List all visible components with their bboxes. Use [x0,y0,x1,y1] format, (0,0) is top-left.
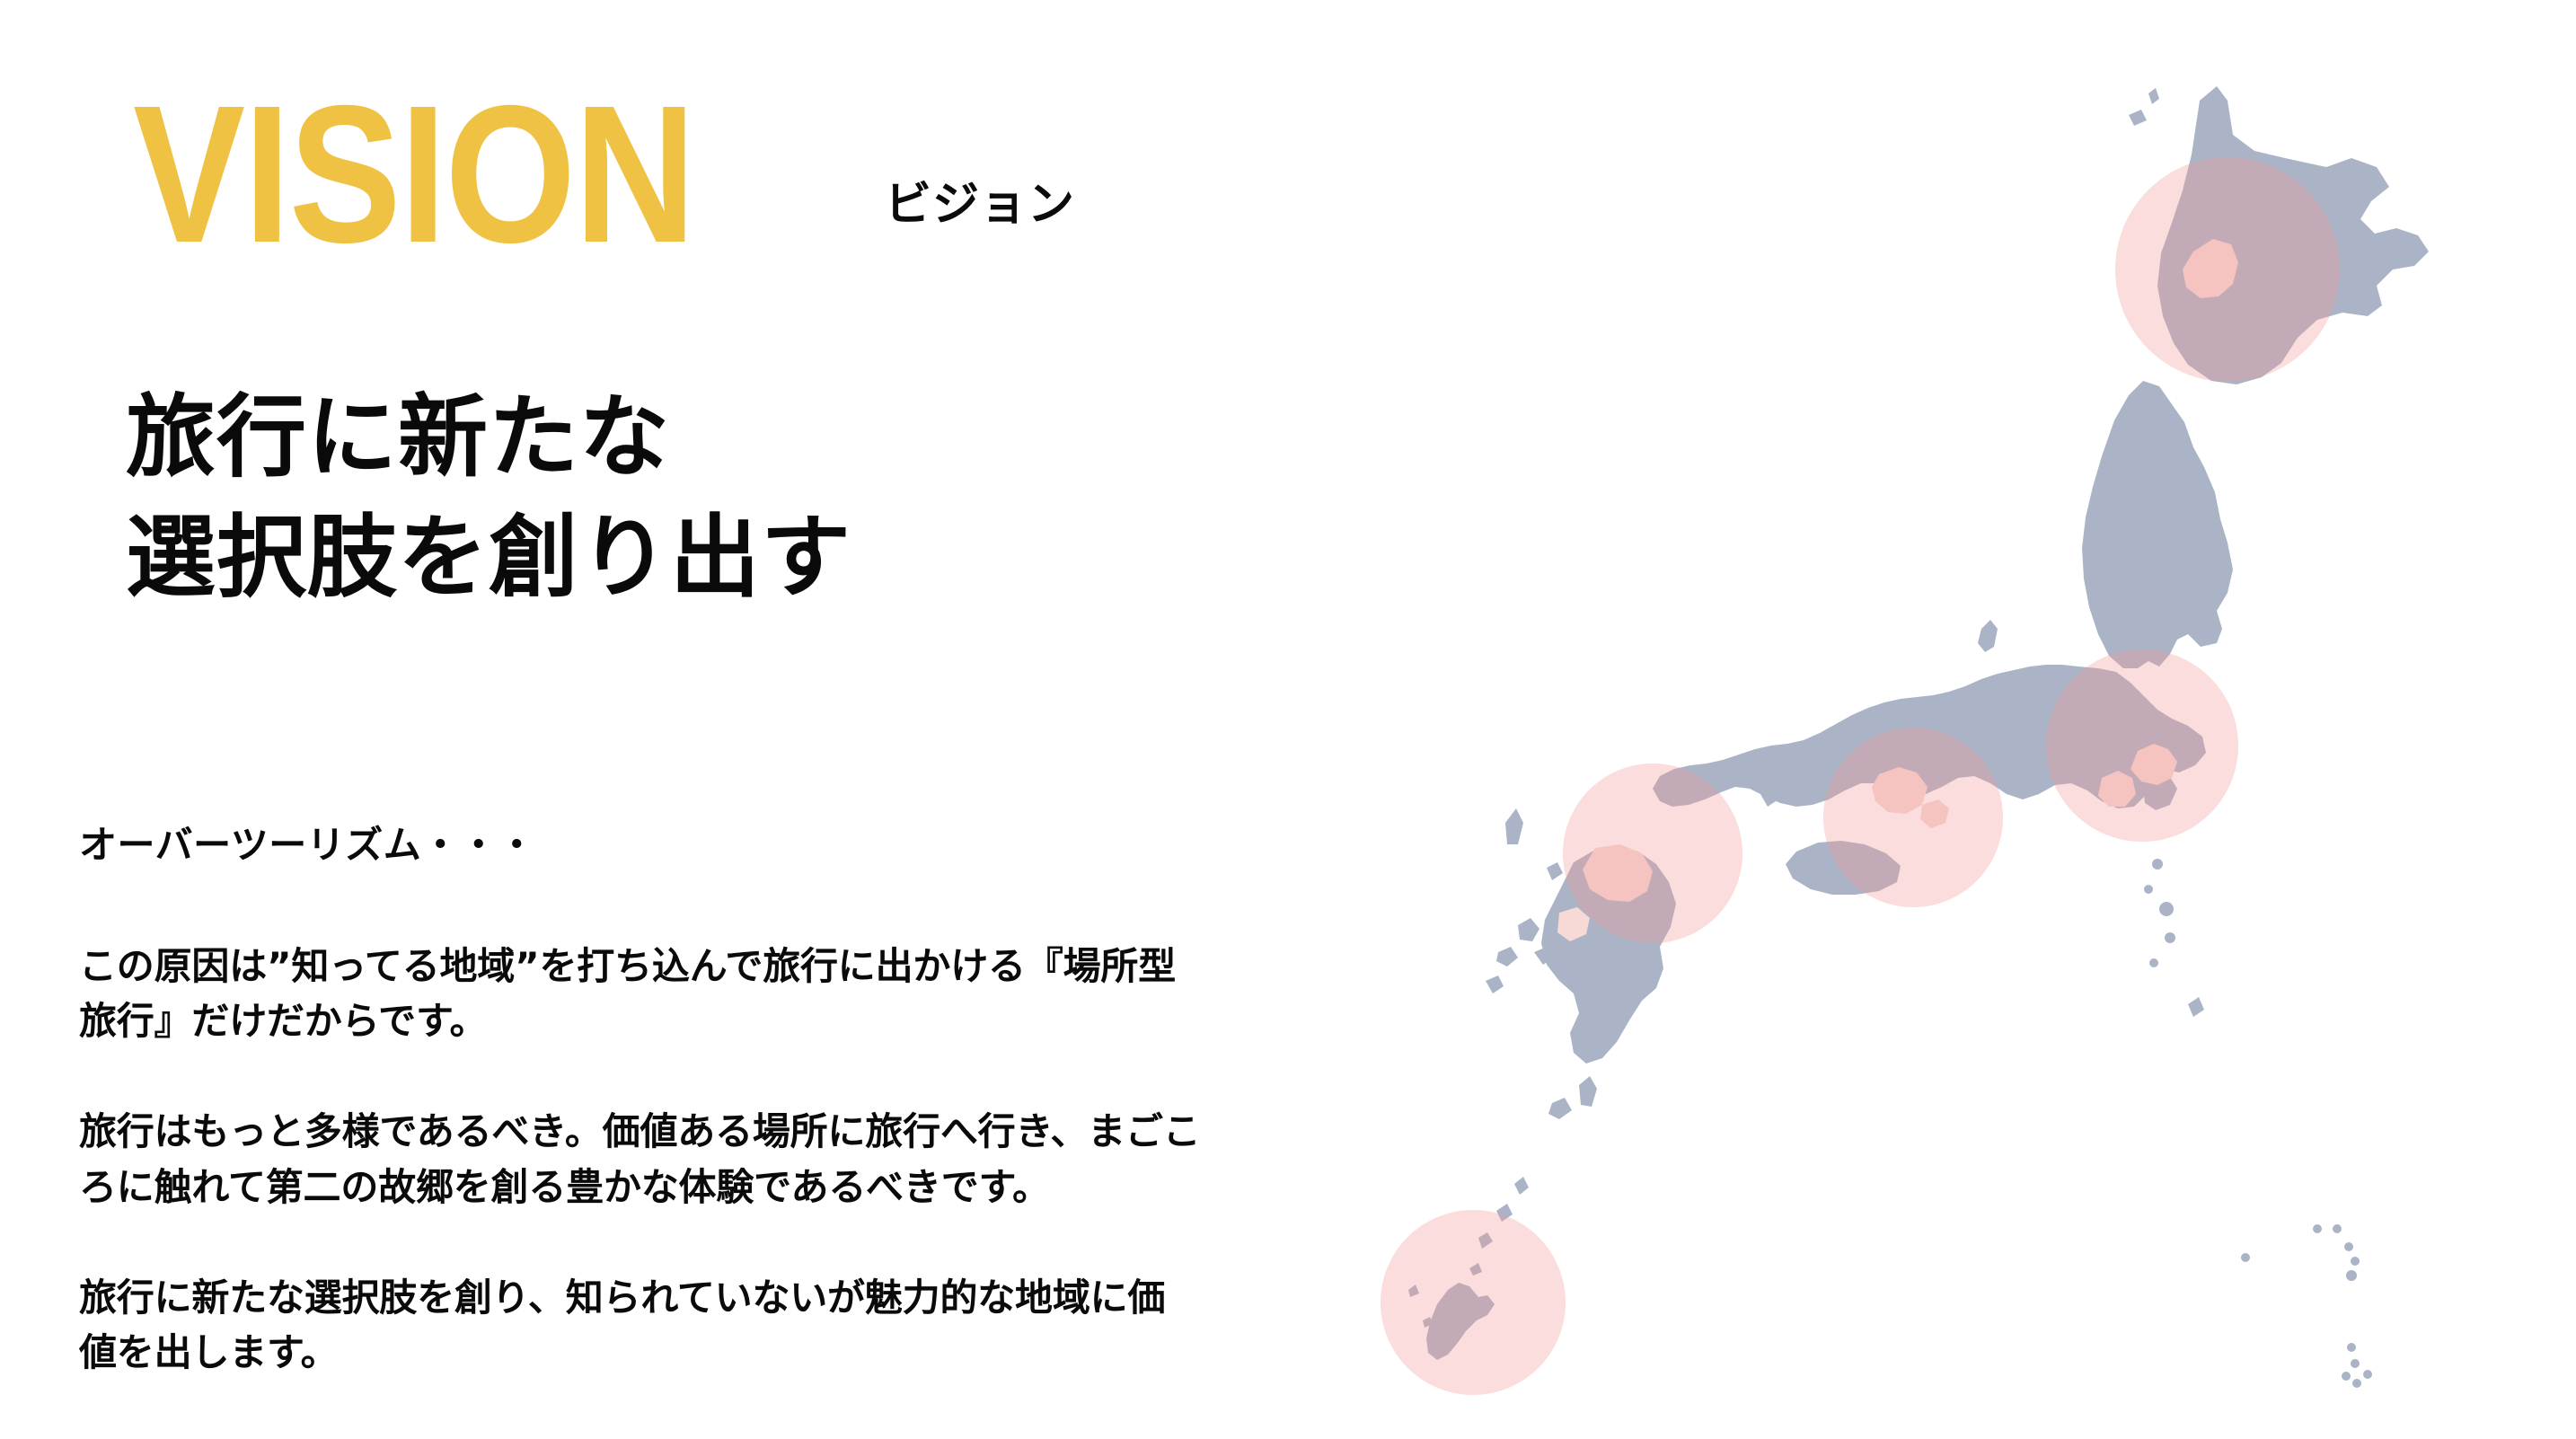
lead-line: オーバーツーリズム・・・ [79,819,1220,872]
body-paragraph-2: 旅行はもっと多様であるべき。価値ある場所に旅行へ行き、まごころに触れて第二の故郷… [79,1104,1202,1214]
page-subtitle: ビジョン [885,181,1075,228]
left-content-column: VISION ビジョン 旅行に新たな 選択肢を創り出す オーバーツーリズム・・・… [0,0,1275,1439]
marker-circles [1381,157,2340,1395]
body-text-block: オーバーツーリズム・・・ この原因は”知ってる地域”を打ち込んで旅行に出かける『… [79,819,1220,1381]
okinawa-marker[interactable] [1381,1210,1566,1395]
body-paragraph-3: 旅行に新たな選択肢を創り、知られていないが魅力的な地域に価値を出します。 [79,1270,1202,1381]
kansai-marker[interactable] [1823,728,2003,907]
hokkaido-marker[interactable] [2115,157,2340,382]
vision-slide: VISION ビジョン 旅行に新たな 選択肢を創り出す オーバーツーリズム・・・… [0,0,2576,1439]
map-panel [1293,0,2576,1439]
header-row: VISION ビジョン [133,79,1075,259]
page-title: VISION [133,91,694,259]
kanto-marker[interactable] [2046,649,2238,842]
japan-map [1293,0,2576,1439]
kyushu-marker[interactable] [1563,764,1742,943]
body-paragraph-1: この原因は”知ってる地域”を打ち込んで旅行に出かける『場所型旅行』だけだからです… [79,939,1202,1049]
headline: 旅行に新たな 選択肢を創り出す [126,377,851,618]
